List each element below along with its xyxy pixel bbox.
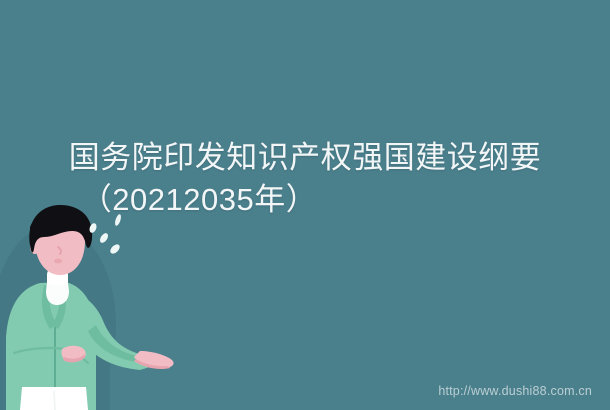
- title-line-primary: 国务院印发知识产权强国建设纲要: [0, 138, 610, 178]
- illustration-person-pointing: [0, 205, 230, 410]
- title-line-secondary: （20212035年）: [0, 180, 610, 220]
- title-block: 国务院印发知识产权强国建设纲要 （20212035年）: [0, 138, 610, 221]
- source-watermark: http://www.dushi88.com.cn: [438, 384, 592, 398]
- cover-image: 国务院印发知识产权强国建设纲要 （20212035年） http://www.d…: [0, 0, 610, 410]
- person-pants: [20, 387, 88, 410]
